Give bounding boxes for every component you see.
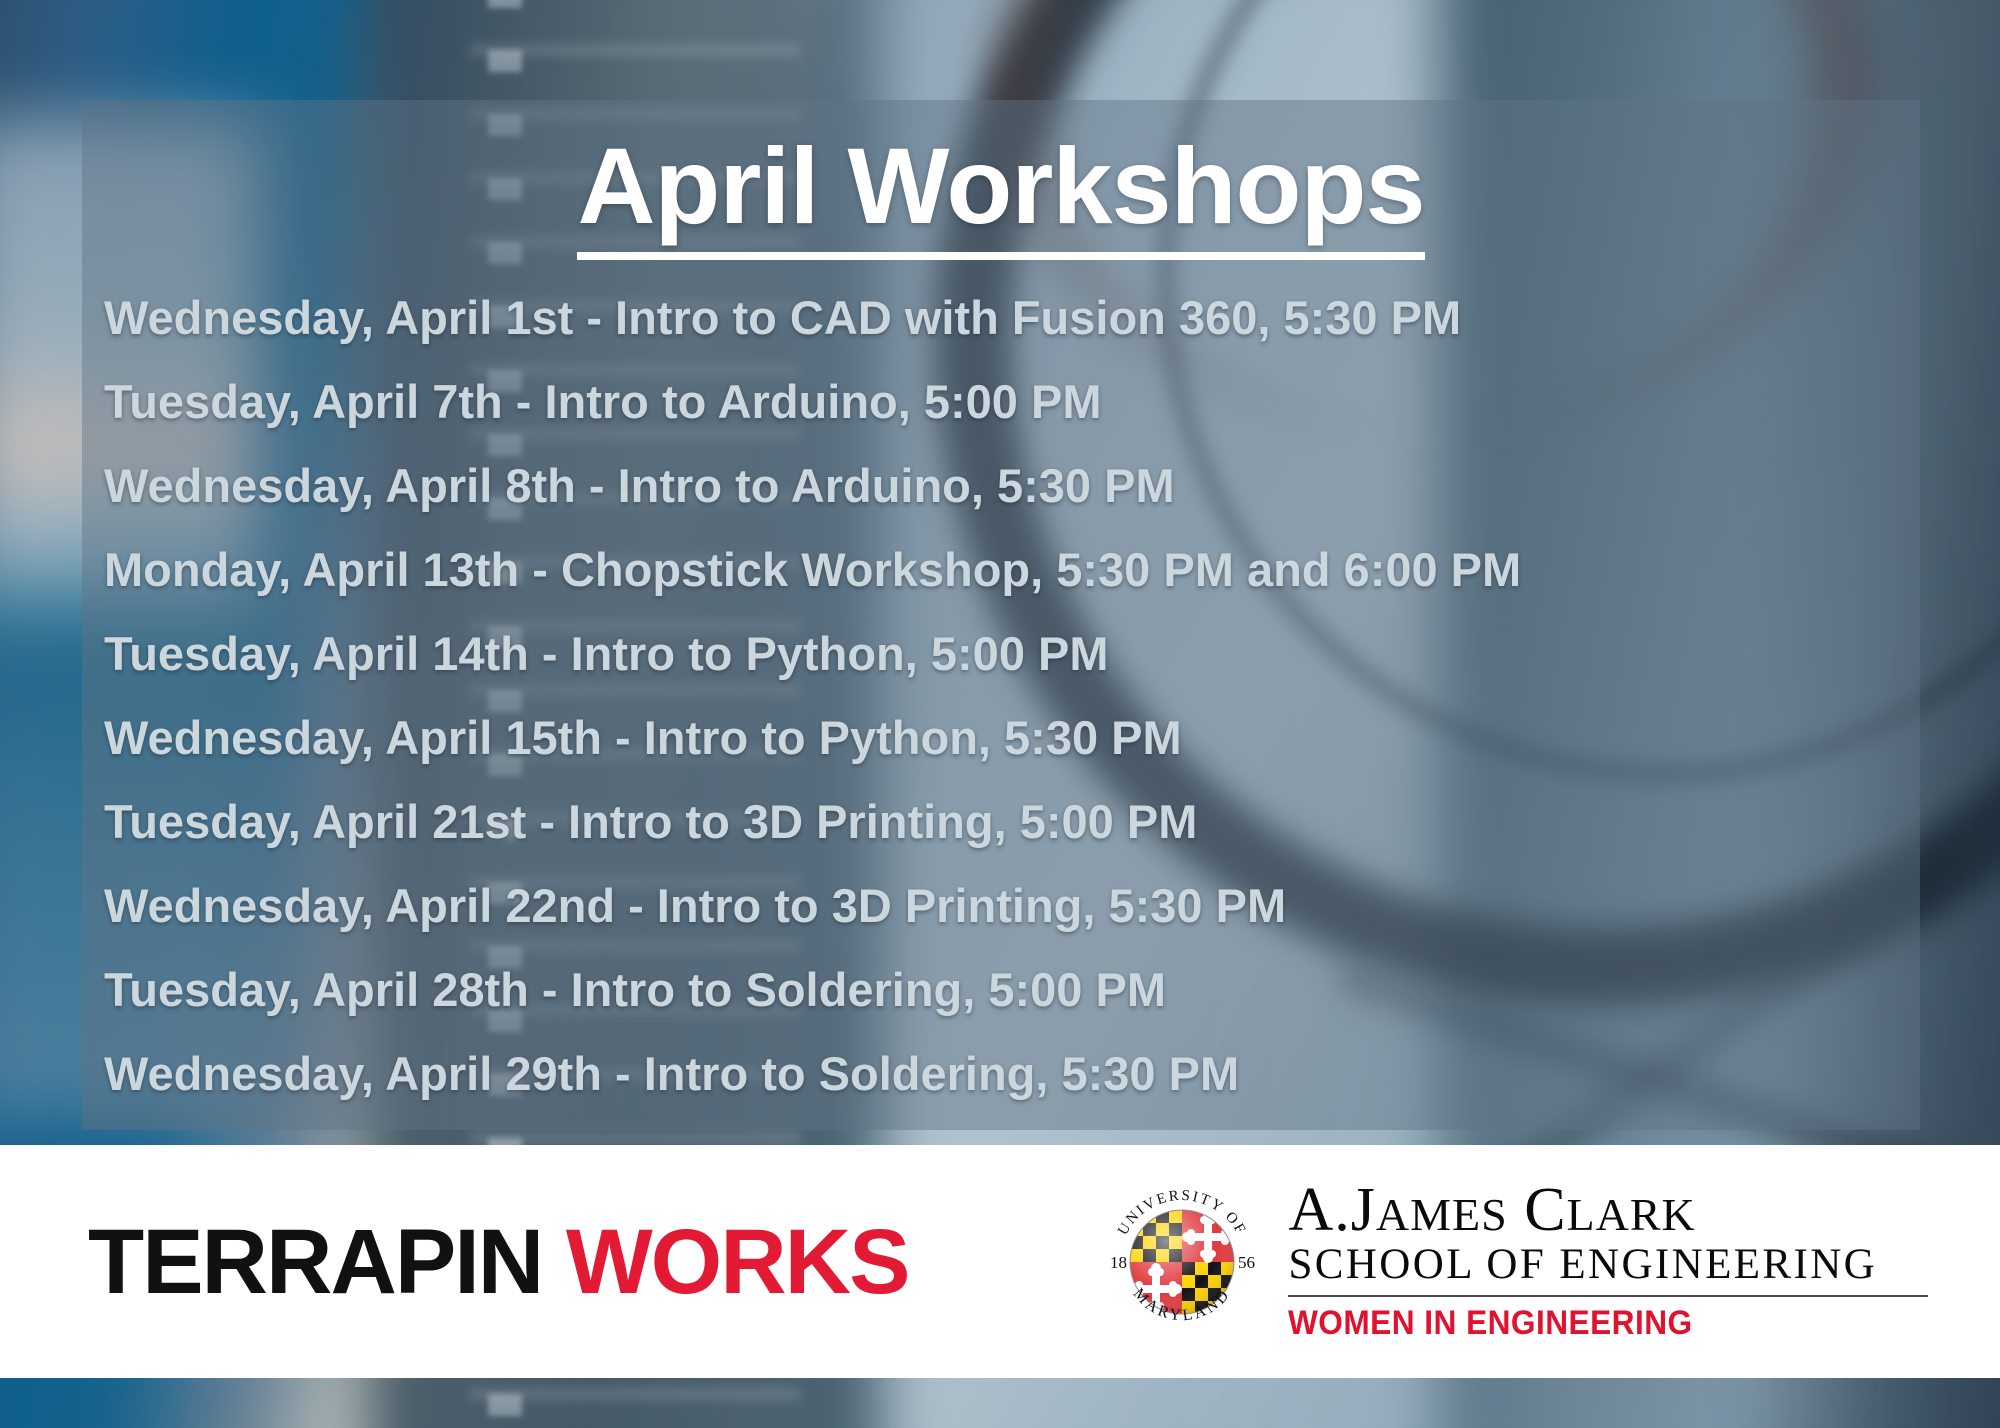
clark-name-part-a: A.	[1288, 1176, 1350, 1244]
clark-school-lockup: UNIVERSITY OF MARYLAND 18 56 A.JAMES CLA…	[1098, 1178, 1928, 1346]
clark-school-name: A.JAMES CLARK	[1288, 1180, 1928, 1241]
list-item: Wednesday, April 1st - Intro to CAD with…	[100, 294, 1920, 341]
content-overlay-panel: April Workshops Wednesday, April 1st - I…	[82, 100, 1920, 1130]
list-item: Wednesday, April 29th - Intro to Solderi…	[100, 1050, 1920, 1097]
clark-school-wordmark: A.JAMES CLARK SCHOOL OF ENGINEERING WOME…	[1288, 1180, 1928, 1344]
list-item: Monday, April 13th - Chopstick Workshop,…	[100, 546, 1920, 593]
list-item: Wednesday, April 8th - Intro to Arduino,…	[100, 462, 1920, 509]
umd-seal-year-right: 56	[1238, 1253, 1255, 1272]
women-in-engineering-label: WOMEN IN ENGINEERING	[1288, 1304, 1883, 1343]
list-item: Tuesday, April 7th - Intro to Arduino, 5…	[100, 378, 1920, 425]
poster-canvas: April Workshops Wednesday, April 1st - I…	[0, 0, 2000, 1428]
footer-logo-band: TERRAPIN WORKS	[0, 1145, 2000, 1378]
terrapin-works-logo-works: WORKS	[566, 1211, 909, 1313]
list-item: Wednesday, April 22nd - Intro to 3D Prin…	[100, 882, 1920, 929]
terrapin-works-logo-terrapin: TERRAPIN	[88, 1211, 542, 1313]
clark-name-part-e: LARK	[1567, 1189, 1696, 1240]
clark-divider-rule	[1288, 1295, 1928, 1297]
clark-name-part-d: C	[1524, 1176, 1566, 1244]
umd-seal-icon: UNIVERSITY OF MARYLAND 18 56	[1098, 1178, 1266, 1346]
page-title-text: April Workshops	[577, 125, 1424, 260]
clark-school-subtitle: SCHOOL OF ENGINEERING	[1288, 1240, 1928, 1287]
list-item: Tuesday, April 14th - Intro to Python, 5…	[100, 630, 1920, 677]
list-item: Tuesday, April 21st - Intro to 3D Printi…	[100, 798, 1920, 845]
clark-name-part-b: J	[1351, 1176, 1376, 1244]
umd-seal-year-left: 18	[1110, 1253, 1127, 1272]
terrapin-works-logo: TERRAPIN WORKS	[88, 1216, 908, 1308]
clark-name-part-c: AMES	[1376, 1189, 1508, 1240]
list-item: Tuesday, April 28th - Intro to Soldering…	[100, 966, 1920, 1013]
workshop-schedule-list: Wednesday, April 1st - Intro to CAD with…	[82, 240, 1920, 1097]
page-title: April Workshops	[82, 100, 1920, 240]
list-item: Wednesday, April 15th - Intro to Python,…	[100, 714, 1920, 761]
